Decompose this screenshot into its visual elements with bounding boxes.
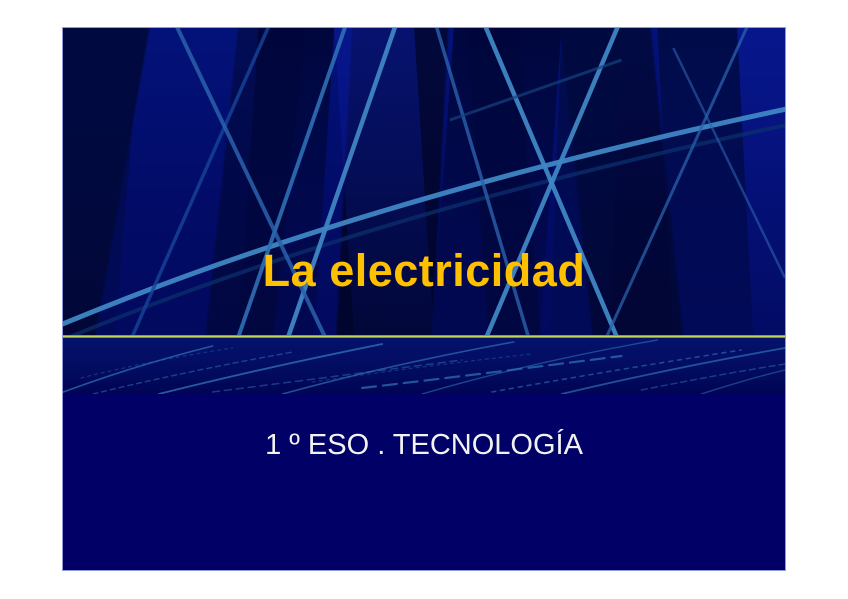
presentation-slide: La electricidad: [62, 27, 786, 571]
faint-streaks-graphic: [63, 338, 785, 394]
slide-lower-region: [63, 394, 785, 570]
slide-subtitle: 1 º ESO . TECNOLOGÍA: [63, 426, 785, 464]
slide-title: La electricidad: [63, 244, 785, 298]
slide-streak-band: [63, 338, 785, 394]
screenshot-canvas: La electricidad: [0, 0, 848, 599]
slide-upper-region: La electricidad: [63, 28, 785, 335]
